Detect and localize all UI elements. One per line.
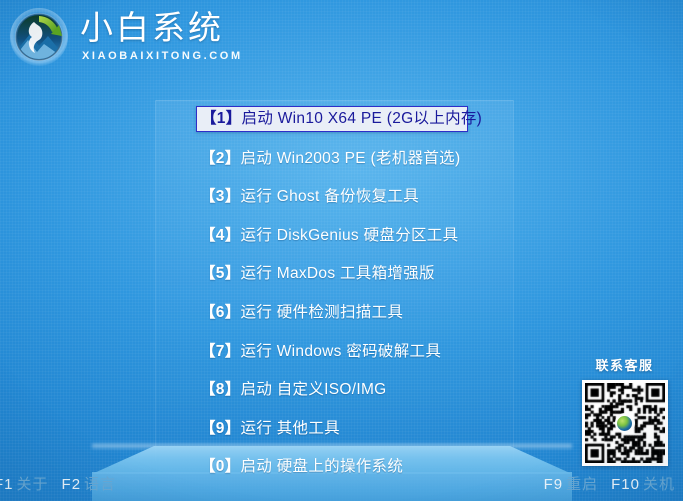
brand-name: 小白系统 [80, 11, 243, 44]
brand-domain: XIAOBAIXITONG.COM [82, 51, 243, 62]
boot-menu-item-key: 【0】 [200, 458, 241, 475]
boot-menu-item-4[interactable]: 【4】运行 DiskGenius 硬盘分区工具 [196, 224, 482, 248]
boot-menu-list: 【1】启动 Win10 X64 PE (2G以上内存)【2】启动 Win2003… [196, 106, 482, 494]
boot-menu-item-6[interactable]: 【6】运行 硬件检测扫描工具 [196, 301, 482, 325]
boot-menu-item-label: 运行 其他工具 [241, 420, 340, 437]
qr-code-icon [582, 380, 668, 466]
boot-menu-item-10[interactable]: 【0】启动 硬盘上的操作系统 [196, 455, 482, 479]
boot-menu-screen: 小白系统 XIAOBAIXITONG.COM 【1】启动 Win10 X64 P… [0, 0, 683, 501]
boot-menu-item-key: 【3】 [200, 188, 241, 205]
boot-menu-item-key: 【4】 [200, 227, 241, 244]
recycle-globe-logo-icon [8, 6, 70, 68]
boot-menu-item-7[interactable]: 【7】运行 Windows 密码破解工具 [196, 340, 482, 364]
footer-hotkey-key[interactable]: F9 [544, 476, 564, 493]
footer-hotkey-key[interactable]: F2 [62, 476, 82, 493]
footer-hotkey-label[interactable]: 关于 [17, 476, 49, 493]
boot-menu-item-label: 运行 Windows 密码破解工具 [241, 343, 442, 360]
footer-hotkey-key[interactable]: F10 [611, 476, 640, 493]
boot-menu-item-label: 启动 Win10 X64 PE (2G以上内存) [242, 110, 483, 127]
footer-hotkey-label[interactable]: 重启 [566, 476, 598, 493]
boot-menu-item-9[interactable]: 【9】运行 其他工具 [196, 417, 482, 441]
boot-menu-item-key: 【5】 [200, 265, 241, 282]
footer-hotkey-label[interactable]: 语言 [84, 476, 116, 493]
boot-menu-item-key: 【8】 [200, 381, 241, 398]
qr-center-logo [615, 413, 635, 433]
boot-menu-item-3[interactable]: 【3】运行 Ghost 备份恢复工具 [196, 185, 482, 209]
qr-center-logo-dot [617, 416, 632, 431]
boot-menu-item-label: 启动 自定义ISO/IMG [241, 381, 387, 398]
support-label: 联系客服 [577, 355, 672, 374]
boot-menu-item-key: 【6】 [200, 304, 241, 321]
boot-menu-item-5[interactable]: 【5】运行 MaxDos 工具箱增强版 [196, 262, 482, 286]
boot-menu-item-key: 【7】 [200, 343, 241, 360]
footer-hotkeys-right: F9重启F10关机 [544, 473, 675, 494]
boot-menu-item-key: 【2】 [200, 150, 241, 167]
boot-menu-item-label: 运行 Ghost 备份恢复工具 [241, 188, 419, 205]
brand-header: 小白系统 XIAOBAIXITONG.COM [8, 6, 243, 68]
boot-menu-item-label: 启动 Win2003 PE (老机器首选) [241, 150, 461, 167]
boot-menu-item-1[interactable]: 【1】启动 Win10 X64 PE (2G以上内存) [196, 106, 468, 132]
customer-support-block: 联系客服 [577, 355, 672, 466]
boot-menu-item-label: 运行 MaxDos 工具箱增强版 [241, 265, 435, 282]
brand-text-block: 小白系统 XIAOBAIXITONG.COM [80, 11, 243, 64]
boot-menu-item-label: 运行 硬件检测扫描工具 [241, 304, 404, 321]
boot-menu-item-2[interactable]: 【2】启动 Win2003 PE (老机器首选) [196, 147, 482, 171]
footer-hotkey-key[interactable]: F1 [0, 476, 14, 493]
boot-menu-item-label: 运行 DiskGenius 硬盘分区工具 [241, 227, 459, 244]
footer-hotkey-label[interactable]: 关机 [643, 476, 675, 493]
boot-menu-item-key: 【9】 [200, 420, 241, 437]
boot-menu-item-key: 【1】 [201, 110, 242, 127]
boot-menu-item-8[interactable]: 【8】启动 自定义ISO/IMG [196, 378, 482, 402]
boot-menu-item-label: 启动 硬盘上的操作系统 [241, 458, 404, 475]
footer-hotkeys-left: F1关于F2语言 [0, 473, 116, 494]
